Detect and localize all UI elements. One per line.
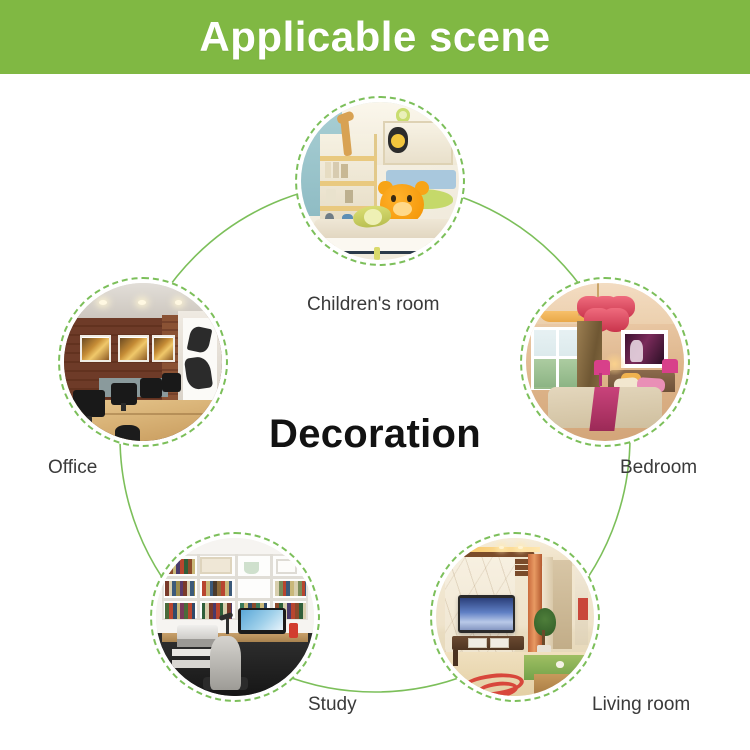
living-room-photo <box>436 538 594 696</box>
diagram-center-label: Decoration <box>0 412 750 457</box>
scene-label-office: Office <box>48 457 97 479</box>
childrens-room-disc[interactable] <box>295 96 465 266</box>
scene-diagram: Children's room <box>0 74 750 750</box>
scene-node-living[interactable] <box>430 532 600 702</box>
scene-node-children[interactable] <box>295 96 465 266</box>
applicable-scene-page: Applicable scene <box>0 0 750 750</box>
study-photo <box>156 538 314 696</box>
scene-label-study: Study <box>308 694 357 716</box>
scene-label-children: Children's room <box>307 294 439 316</box>
childrens-room-photo <box>301 102 459 260</box>
study-disc[interactable] <box>150 532 320 702</box>
scene-label-bedroom: Bedroom <box>620 457 697 479</box>
scene-node-study[interactable] <box>150 532 320 702</box>
page-title: Applicable scene <box>199 16 550 58</box>
scene-label-living-room: Living room <box>592 694 690 716</box>
header-banner: Applicable scene <box>0 0 750 74</box>
living-room-disc[interactable] <box>430 532 600 702</box>
